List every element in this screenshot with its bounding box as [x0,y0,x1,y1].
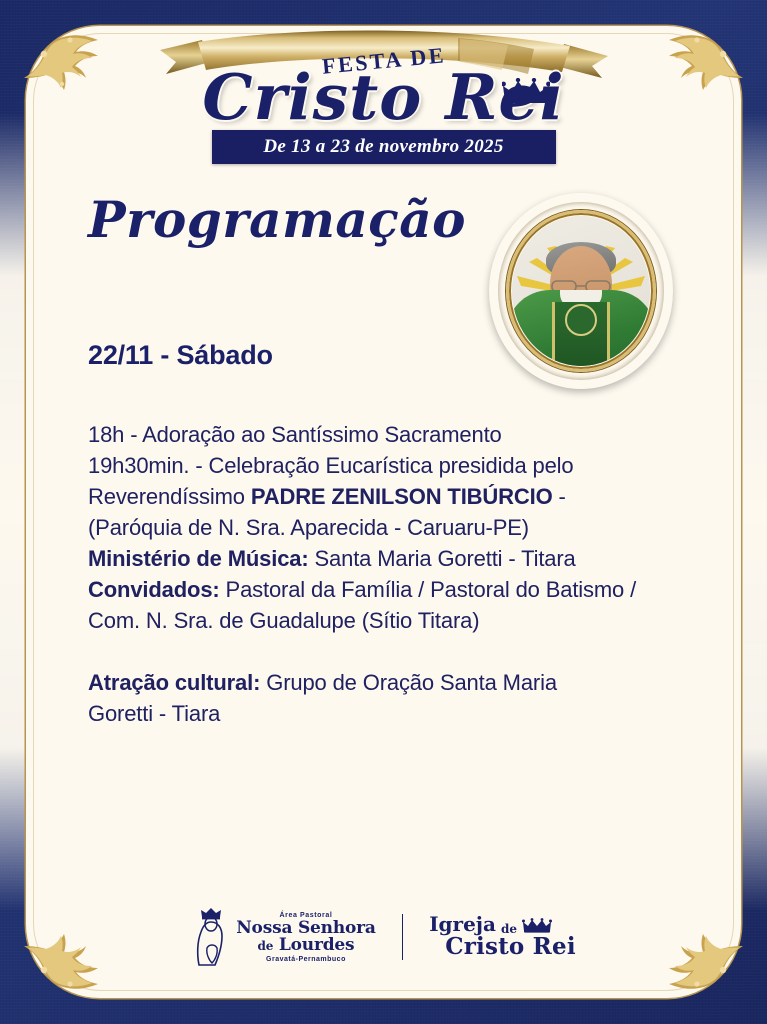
program-line-text: Com. N. Sra. de Guadalupe (Sítio Titara) [88,608,479,633]
day-heading: 22/11 - Sábado [88,340,273,371]
lourdes-de: de [258,939,274,953]
cultural-label: Atração cultural: [88,670,260,695]
program-line-text: (Paróquia de N. Sra. Aparecida - Caruaru… [88,515,529,540]
crown-icon [522,918,552,933]
program-line-text: 19h30min. - Celebração Eucarística presi… [88,453,573,478]
program-text-block: 18h - Adoração ao Santíssimo Sacramento … [88,419,708,729]
logo-nossa-senhora-de-lourdes: Área Pastoral Nossa Senhora de Lourdes G… [191,908,375,966]
lourdes-line-2-group: de Lourdes [236,937,375,954]
program-spacer [88,636,708,667]
music-ministry-label: Ministério de Música: [88,546,309,571]
guests-value: Pastoral da Família / Pastoral do Batism… [220,577,636,602]
lourdes-text-group: Área Pastoral Nossa Senhora de Lourdes G… [236,912,375,963]
date-banner: De 13 a 23 de novembro 2025 [212,130,556,164]
cultural-line-2: Goretti - Tiara [88,698,708,729]
stole-medallion [565,304,597,336]
cultural-line: Atração cultural: Grupo de Oração Santa … [88,667,708,698]
crown-icon [502,78,550,104]
logo-igreja-cristo-rei: Igreja de Cristo Rei [429,914,576,959]
program-line: 18h - Adoração ao Santíssimo Sacramento [88,419,708,450]
cultural-value: Grupo de Oração Santa Maria [260,670,557,695]
program-line: 19h30min. - Celebração Eucarística presi… [88,450,708,481]
program-line-text: 18h - Adoração ao Santíssimo Sacramento [88,422,502,447]
lourdes-line-2: Lourdes [279,935,354,955]
footer-divider [402,914,404,960]
program-line: Reverendíssimo PADRE ZENILSON TIBÚRCIO - [88,481,708,512]
priest-portrait [489,193,673,389]
lourdes-city: Gravatá-Pernambuco [236,956,375,963]
date-banner-text: De 13 a 23 de novembro 2025 [263,136,503,158]
program-line: (Paróquia de N. Sra. Aparecida - Caruaru… [88,512,708,543]
program-line-post: - [553,484,566,509]
program-line: Convidados: Pastoral da Família / Pastor… [88,574,708,605]
music-ministry-value: Santa Maria Goretti - Titara [309,546,576,571]
portrait-photo [512,216,650,366]
section-title: Programação [88,190,466,249]
marian-figure-icon [191,908,231,966]
poster-footer: Área Pastoral Nossa Senhora de Lourdes G… [0,908,767,966]
poster-header: FESTA DE Cristo Rei De 13 a 23 de novemb… [0,22,767,172]
program-line: Ministério de Música: Santa Maria Gorett… [88,543,708,574]
program-line: Com. N. Sra. de Guadalupe (Sítio Titara) [88,605,708,636]
guests-label: Convidados: [88,577,220,602]
igreja-row-1: Igreja de [429,914,576,935]
program-line-pre: Reverendíssimo [88,484,251,509]
presider-name: PADRE ZENILSON TIBÚRCIO [251,484,553,509]
poster-title: Cristo Rei [0,60,767,134]
igreja-line-2: Cristo Rei [445,935,576,959]
poster-root: FESTA DE Cristo Rei De 13 a 23 de novemb… [0,0,767,1024]
igreja-word: Igreja [429,914,496,935]
